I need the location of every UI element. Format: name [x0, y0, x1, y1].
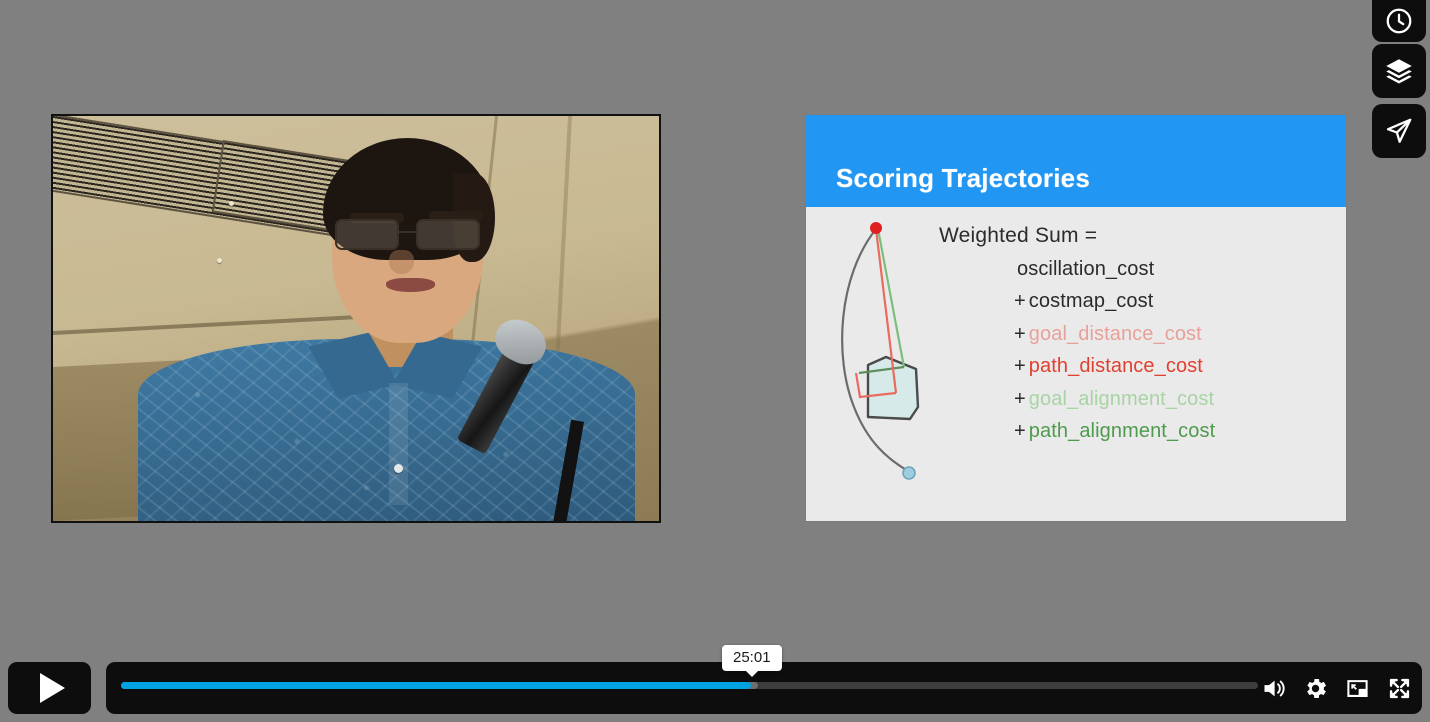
glasses-lens-right: [416, 219, 480, 249]
slide-pane[interactable]: Scoring Trajectories: [805, 114, 1347, 522]
volume-icon: [1260, 675, 1287, 702]
formula-term: +costmap_cost: [939, 285, 1339, 317]
formula-term-label: goal_distance_cost: [1029, 323, 1202, 345]
formula-term: +path_distance_cost: [939, 350, 1339, 382]
play-triangle-icon: [40, 673, 65, 703]
progress-fill: [121, 682, 751, 689]
formula-term: +goal_alignment_cost: [939, 383, 1339, 415]
video-player-stage: Scoring Trajectories: [0, 0, 1430, 722]
formula-operator: +: [1014, 290, 1026, 312]
send-button[interactable]: [1372, 104, 1426, 158]
shirt-button: [394, 464, 403, 473]
formula-term-label: oscillation_cost: [1017, 258, 1154, 280]
settings-button[interactable]: [1300, 673, 1330, 703]
slide-title: Scoring Trajectories: [836, 163, 1090, 194]
glasses-bridge: [399, 231, 416, 233]
trajectory-diagram: [816, 207, 946, 507]
formula-operator: +: [1014, 388, 1026, 410]
pip-icon: [1344, 675, 1371, 702]
picture-in-picture-button[interactable]: [1342, 673, 1372, 703]
formula-operator: +: [1014, 420, 1026, 442]
slide-header: Scoring Trajectories: [806, 115, 1346, 209]
glasses-lens-left: [335, 219, 399, 249]
presenter-figure: [53, 116, 659, 521]
presenter-glasses: [335, 219, 480, 249]
fullscreen-icon: [1386, 675, 1413, 702]
formula-term-label: goal_alignment_cost: [1029, 388, 1214, 410]
layers-button[interactable]: [1372, 44, 1426, 98]
formula-operator: +: [1014, 323, 1026, 345]
time-tooltip: 25:01: [722, 645, 782, 671]
presenter-nose: [389, 250, 413, 274]
send-icon: [1384, 116, 1414, 146]
clock-icon: [1384, 6, 1414, 36]
speaker-video-pane[interactable]: [51, 114, 661, 523]
goal-point: [870, 222, 882, 234]
weighted-sum-formula: Weighted Sum = oscillation_cost +costmap…: [939, 224, 1339, 447]
formula-term-label: path_alignment_cost: [1029, 420, 1215, 442]
volume-button[interactable]: [1258, 673, 1288, 703]
formula-term-label: costmap_cost: [1029, 290, 1154, 312]
formula-heading: Weighted Sum =: [939, 224, 1339, 248]
formula-term: +path_alignment_cost: [939, 415, 1339, 447]
formula-operator: +: [1014, 355, 1026, 377]
presenter-mouth: [386, 278, 434, 292]
play-button[interactable]: [8, 662, 91, 714]
layers-icon: [1384, 56, 1414, 86]
gear-icon: [1302, 675, 1329, 702]
history-button[interactable]: [1372, 0, 1426, 42]
shirt-placket: [389, 383, 407, 505]
fullscreen-button[interactable]: [1384, 673, 1414, 703]
formula-term: +goal_distance_cost: [939, 318, 1339, 350]
start-point: [903, 467, 915, 479]
formula-term: oscillation_cost: [939, 253, 1339, 285]
formula-term-label: path_distance_cost: [1029, 355, 1203, 377]
slide-body: Weighted Sum = oscillation_cost +costmap…: [806, 207, 1346, 521]
progress-scrubber[interactable]: [121, 682, 1258, 689]
